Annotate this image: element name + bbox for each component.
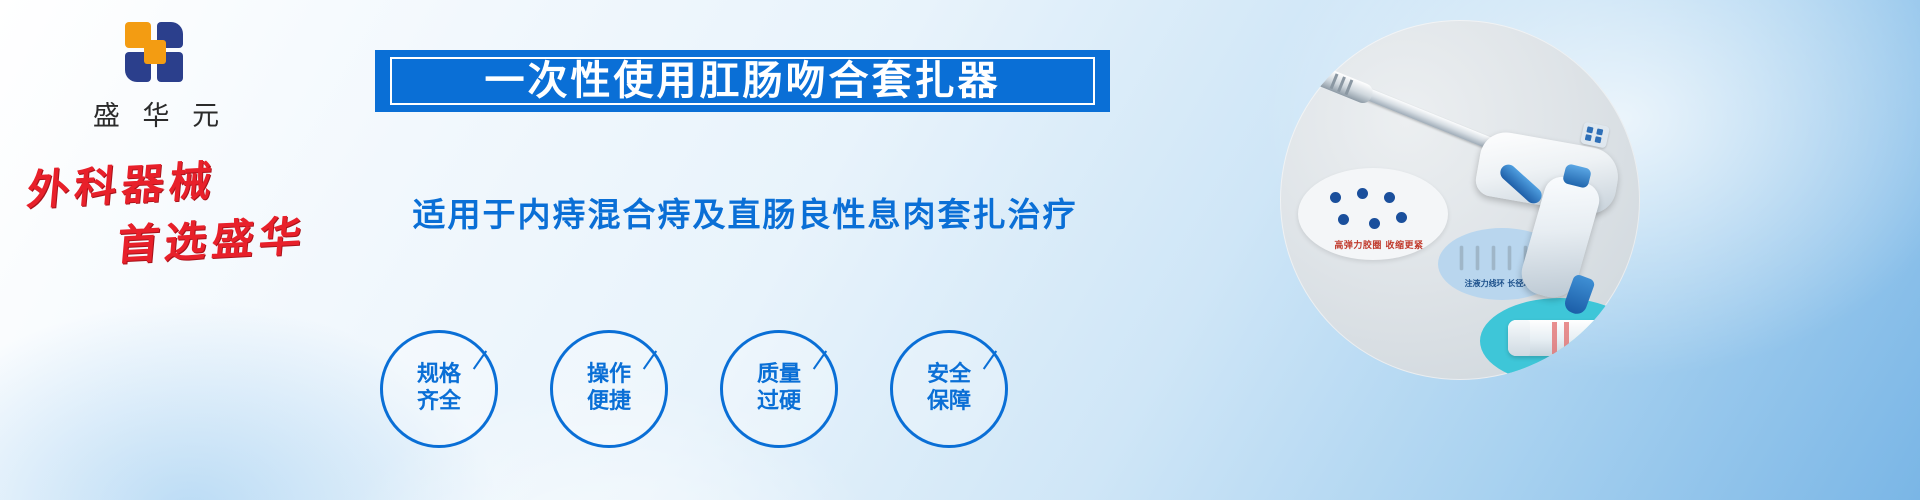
slash-accent-icon [983, 350, 997, 369]
feature-item-4-line1: 安全 [927, 362, 971, 389]
stapler-gun-icon [1300, 48, 1626, 338]
slogan: 外科器械 首选盛华 [18, 152, 348, 272]
panel-key [1595, 136, 1602, 143]
gun-tip [1312, 65, 1375, 106]
feature-item-4-line2: 保障 [927, 389, 971, 416]
tip-ring [1330, 73, 1339, 89]
product-photo: 高弹力胶圈 收缩更紧 注液力线环 长径增强 [1280, 20, 1640, 380]
feature-item-2-line1: 操作 [587, 362, 631, 389]
tip-ring [1337, 76, 1346, 92]
feature-item-1: 规格 齐全 [380, 330, 498, 448]
brand-logo: 盛 华 元 [66, 22, 246, 133]
feature-item-1-line2: 齐全 [417, 389, 461, 416]
slash-accent-icon [813, 350, 827, 369]
headline-subtitle: 适用于内痔混合痔及直肠良性息肉套扎治疗 [355, 188, 1135, 236]
feature-item-4: 安全 保障 [890, 330, 1008, 448]
gun-control-panel [1580, 122, 1610, 149]
feature-item-1-line1: 规格 [417, 362, 461, 389]
panel-key [1586, 126, 1593, 133]
panel-key [1596, 128, 1603, 135]
squares-logo-icon [113, 22, 199, 88]
logo-block-5 [144, 40, 166, 64]
feature-item-2: 操作 便捷 [550, 330, 668, 448]
feature-list: 规格 齐全 操作 便捷 质量 过硬 安全 保障 [380, 330, 1100, 470]
panel-key [1585, 134, 1592, 141]
feature-item-3-line1: 质量 [757, 362, 801, 389]
feature-item-3: 质量 过硬 [720, 330, 838, 448]
slash-accent-icon [473, 350, 487, 369]
brand-name: 盛 华 元 [66, 94, 246, 133]
tip-ring [1345, 79, 1354, 95]
slogan-line-2: 首选盛华 [115, 202, 310, 273]
feature-item-2-line2: 便捷 [587, 389, 631, 416]
promo-banner: 盛 华 元 外科器械 首选盛华 一次性使用肛肠吻合套扎器 适用于内痔混合痔及直肠… [0, 0, 1920, 500]
feature-item-3-line2: 过硬 [757, 389, 801, 416]
headline-title: 一次性使用肛肠吻合套扎器 [375, 50, 1110, 112]
slash-accent-icon [643, 350, 657, 369]
slogan-line-1: 外科器械 [25, 147, 220, 218]
